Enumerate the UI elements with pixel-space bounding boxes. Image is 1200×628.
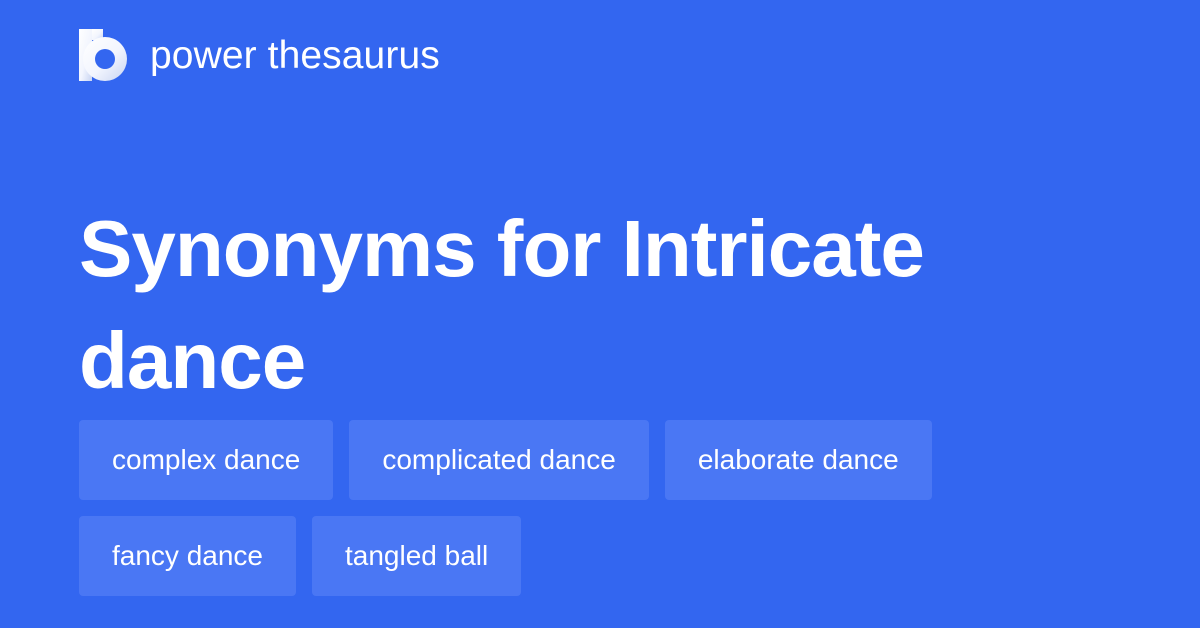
synonyms-share-card: power thesaurus Synonyms for Intricate d…	[0, 0, 1200, 628]
synonym-chip[interactable]: complicated dance	[349, 420, 648, 500]
brand-name: power thesaurus	[150, 36, 440, 75]
synonym-chip[interactable]: elaborate dance	[665, 420, 932, 500]
synonym-chip-list: complex dance complicated dance elaborat…	[79, 420, 1129, 596]
synonym-chip[interactable]: complex dance	[79, 420, 333, 500]
power-thesaurus-b-logo-icon	[79, 29, 127, 81]
synonym-chip[interactable]: fancy dance	[79, 516, 296, 596]
brand-header[interactable]: power thesaurus	[79, 26, 440, 84]
synonym-chip[interactable]: tangled ball	[312, 516, 521, 596]
page-title: Synonyms for Intricate dance	[79, 193, 1109, 417]
